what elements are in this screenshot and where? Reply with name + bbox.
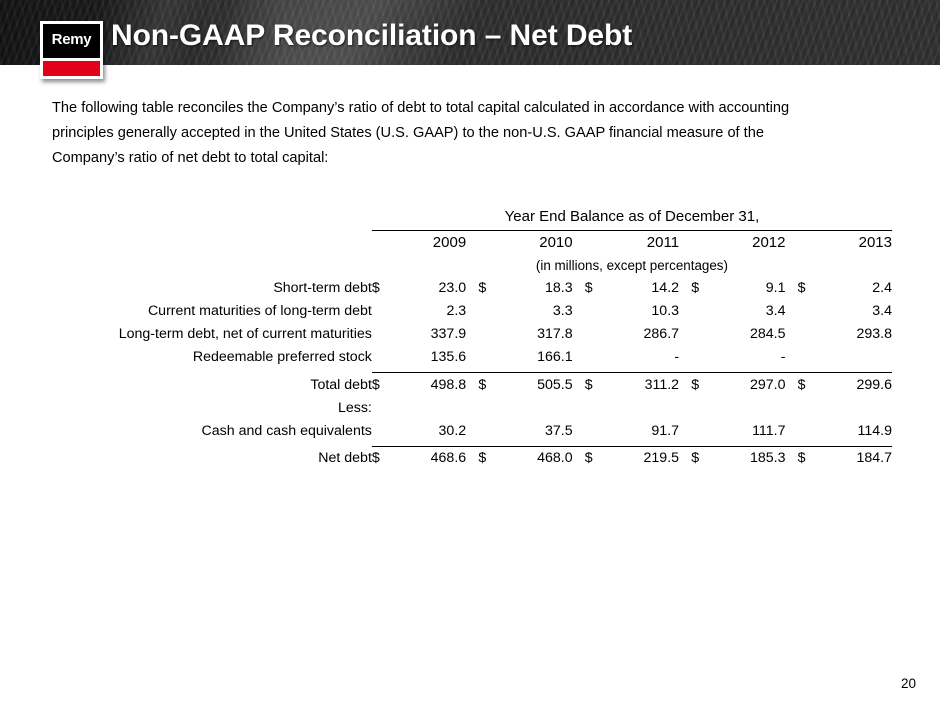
row-currency-symbol: $ [478,446,493,470]
column-gap [466,346,478,369]
year-pad-0 [466,231,478,255]
column-gap [573,323,585,346]
row-value: 91.7 [600,420,679,443]
year-currency-spacer-2 [585,231,600,255]
column-gap [466,397,478,420]
column-header-2013: 2013 [813,231,892,255]
row-currency-symbol [798,420,813,443]
row-currency-symbol [478,397,493,420]
year-currency-spacer-3 [691,231,706,255]
column-gap [466,420,478,443]
table-row: Short-term debt$23.0$18.3$14.2$9.1$2.4 [52,277,892,300]
row-currency-symbol: $ [372,277,387,300]
row-value [493,397,572,420]
row-currency-symbol: $ [585,277,600,300]
column-gap [573,277,585,300]
row-label: Short-term debt [52,277,372,300]
row-currency-symbol [585,397,600,420]
column-gap [573,420,585,443]
row-currency-symbol [372,300,387,323]
column-gap [466,446,478,470]
table-units-row: (in millions, except percentages) [52,254,892,277]
units-note: (in millions, except percentages) [372,254,892,277]
row-value: - [600,346,679,369]
row-value: - [706,346,785,369]
row-value: 311.2 [600,373,679,397]
row-value: 505.5 [493,373,572,397]
column-gap [785,323,797,346]
row-value: 114.9 [813,420,892,443]
row-currency-symbol: $ [691,373,706,397]
column-header-2011: 2011 [600,231,679,255]
row-value [813,346,892,369]
column-gap [573,397,585,420]
row-currency-symbol [372,397,387,420]
row-currency-symbol: $ [798,446,813,470]
row-value: 2.3 [387,300,466,323]
table-row: Total debt$498.8$505.5$311.2$297.0$299.6 [52,373,892,397]
row-currency-symbol [798,300,813,323]
column-gap [679,300,691,323]
row-value: 37.5 [493,420,572,443]
column-gap [466,277,478,300]
column-gap [785,373,797,397]
row-value: 2.4 [813,277,892,300]
column-gap [679,346,691,369]
row-currency-symbol [585,323,600,346]
row-value: 30.2 [387,420,466,443]
column-gap [785,446,797,470]
column-gap [679,373,691,397]
table-row: Less: [52,397,892,420]
column-gap [573,373,585,397]
span-header-label: Year End Balance as of December 31, [372,205,892,228]
row-value: 184.7 [813,446,892,470]
row-value: 111.7 [706,420,785,443]
row-label: Redeemable preferred stock [52,346,372,369]
row-currency-symbol: $ [372,446,387,470]
logo-black-panel: Remy [43,24,100,58]
column-header-2010: 2010 [493,231,572,255]
row-value: 3.4 [813,300,892,323]
row-currency-symbol [691,420,706,443]
row-currency-symbol [478,300,493,323]
row-currency-symbol: $ [478,373,493,397]
page-title: Non-GAAP Reconciliation – Net Debt [111,19,632,53]
logo-red-bar [43,61,100,76]
row-value [813,397,892,420]
row-currency-symbol [691,323,706,346]
row-label: Less: [52,397,372,420]
row-currency-symbol: $ [691,446,706,470]
row-value: 219.5 [600,446,679,470]
logo-wordmark: Remy [43,31,100,48]
net-debt-reconciliation-table: Year End Balance as of December 31, 2009… [52,205,892,470]
year-pad-3 [785,231,797,255]
row-currency-symbol [372,346,387,369]
column-gap [466,373,478,397]
row-value [706,397,785,420]
remy-logo: Remy [40,21,103,79]
row-currency-symbol: $ [478,277,493,300]
row-value: 3.3 [493,300,572,323]
header-banner: Non-GAAP Reconciliation – Net Debt [0,0,940,65]
row-label: Cash and cash equivalents [52,420,372,443]
row-value: 3.4 [706,300,785,323]
year-pad-2 [679,231,691,255]
row-currency-symbol [372,420,387,443]
row-currency-symbol [798,346,813,369]
row-value: 297.0 [706,373,785,397]
column-gap [785,300,797,323]
row-currency-symbol [691,346,706,369]
row-value: 293.8 [813,323,892,346]
row-label: Long-term debt, net of current maturitie… [52,323,372,346]
row-value: 14.2 [600,277,679,300]
intro-paragraph: The following table reconciles the Compa… [52,96,812,171]
column-gap [466,323,478,346]
span-header-spacer [52,205,372,228]
row-value: 468.0 [493,446,572,470]
column-gap [785,277,797,300]
row-currency-symbol [585,420,600,443]
row-value: 498.8 [387,373,466,397]
column-gap [679,446,691,470]
column-gap [573,446,585,470]
row-value: 135.6 [387,346,466,369]
row-currency-symbol: $ [585,446,600,470]
column-header-2012: 2012 [706,231,785,255]
row-label: Current maturities of long-term debt [52,300,372,323]
row-value [600,397,679,420]
row-currency-symbol: $ [372,373,387,397]
table-span-header-row: Year End Balance as of December 31, [52,205,892,228]
row-value: 468.6 [387,446,466,470]
row-currency-symbol [478,346,493,369]
row-value: 18.3 [493,277,572,300]
column-gap [679,277,691,300]
column-gap [466,300,478,323]
row-value: 9.1 [706,277,785,300]
row-value: 284.5 [706,323,785,346]
row-currency-symbol [691,397,706,420]
row-value: 337.9 [387,323,466,346]
row-currency-symbol: $ [798,277,813,300]
row-currency-symbol [478,323,493,346]
year-currency-spacer-1 [478,231,493,255]
row-value [387,397,466,420]
row-currency-symbol [798,397,813,420]
column-gap [573,300,585,323]
units-spacer [52,254,372,277]
year-currency-spacer-4 [798,231,813,255]
column-gap [679,420,691,443]
row-currency-symbol [585,346,600,369]
column-gap [785,420,797,443]
row-currency-symbol [691,300,706,323]
column-gap [785,346,797,369]
column-header-2009: 2009 [387,231,466,255]
row-value: 286.7 [600,323,679,346]
row-value: 185.3 [706,446,785,470]
row-currency-symbol [372,323,387,346]
row-currency-symbol [585,300,600,323]
table-year-header-row: 2009 2010 2011 2012 2013 [52,231,892,255]
row-currency-symbol [798,323,813,346]
column-gap [785,397,797,420]
column-gap [679,323,691,346]
year-header-spacer [52,231,372,255]
column-gap [573,346,585,369]
row-value: 317.8 [493,323,572,346]
reconciliation-table-container: Year End Balance as of December 31, 2009… [52,205,892,470]
row-currency-symbol: $ [798,373,813,397]
page-number: 20 [901,676,916,691]
row-label: Net debt [52,446,372,470]
row-currency-symbol [478,420,493,443]
table-row: Redeemable preferred stock135.6166.1-- [52,346,892,369]
row-value: 166.1 [493,346,572,369]
row-currency-symbol: $ [585,373,600,397]
table-body: Year End Balance as of December 31, 2009… [52,205,892,470]
row-value: 299.6 [813,373,892,397]
table-row: Current maturities of long-term debt2.33… [52,300,892,323]
column-gap [679,397,691,420]
table-row: Net debt$468.6$468.0$219.5$185.3$184.7 [52,446,892,470]
row-value: 10.3 [600,300,679,323]
table-row: Cash and cash equivalents30.237.591.7111… [52,420,892,443]
year-pad-1 [573,231,585,255]
row-label: Total debt [52,373,372,397]
table-row: Long-term debt, net of current maturitie… [52,323,892,346]
row-currency-symbol: $ [691,277,706,300]
year-currency-spacer-0 [372,231,387,255]
row-value: 23.0 [387,277,466,300]
